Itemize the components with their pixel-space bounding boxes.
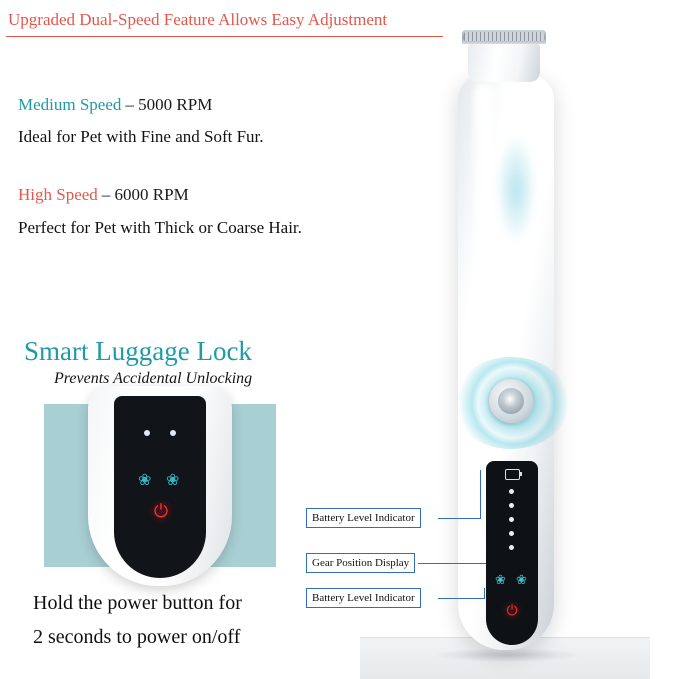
high-speed-description: Perfect for Pet with Thick or Coarse Hai… [18, 218, 302, 238]
battery-level-dot [509, 489, 514, 494]
high-speed-value: – 6000 RPM [102, 185, 189, 204]
callout-leader-line [480, 470, 481, 519]
closeup-led-dot [144, 430, 150, 436]
callout-gear-position-display: Gear Position Display [306, 553, 415, 573]
battery-icon [505, 469, 520, 480]
leaf-icon: ❀ [495, 573, 506, 586]
page-title: Upgraded Dual-Speed Feature Allows Easy … [8, 10, 387, 30]
title-underline [6, 36, 443, 37]
callout-leader-line [438, 598, 484, 599]
closeup-device: ❀ ❀ ⏻ [88, 386, 232, 586]
smart-lock-caption-line2: 2 seconds to power on/off [33, 620, 242, 654]
smart-lock-caption-line1: Hold the power button for [33, 586, 242, 620]
power-button[interactable] [489, 379, 533, 423]
device-display-panel: ❀ ❀ ⏻ [486, 461, 538, 645]
callout-leader-line [418, 563, 486, 564]
battery-level-dot [509, 531, 514, 536]
medium-speed-label: Medium Speed [18, 95, 121, 114]
device-blade-teeth [464, 32, 544, 41]
closeup-display-panel: ❀ ❀ ⏻ [114, 396, 206, 578]
medium-speed-row: Medium Speed – 5000 RPM [18, 95, 212, 115]
battery-level-dot [509, 545, 514, 550]
smart-lock-title: Smart Luggage Lock [24, 336, 252, 367]
power-button-ring [498, 388, 524, 414]
power-icon: ⏻ [150, 500, 172, 522]
smart-lock-caption: Hold the power button for 2 seconds to p… [33, 586, 242, 654]
leaf-icon: ❀ [516, 573, 527, 586]
medium-speed-value: – 5000 RPM [125, 95, 212, 114]
leaf-icon: ❀ [166, 470, 179, 490]
battery-level-dot [509, 517, 514, 522]
power-button-core [505, 395, 517, 407]
medium-speed-description: Ideal for Pet with Fine and Soft Fur. [18, 127, 264, 147]
leaf-icon: ❀ [138, 470, 151, 490]
device-neck [468, 42, 540, 82]
product-infographic: Upgraded Dual-Speed Feature Allows Easy … [0, 0, 679, 679]
high-speed-row: High Speed – 6000 RPM [18, 185, 189, 205]
battery-level-dot [509, 503, 514, 508]
callout-battery-level-indicator-bottom: Battery Level Indicator [306, 588, 421, 608]
device-glow [496, 134, 536, 244]
closeup-led-dot [170, 430, 176, 436]
main-product-device: ❀ ❀ ⏻ [452, 24, 560, 656]
callout-battery-level-indicator-top: Battery Level Indicator [306, 508, 421, 528]
device-highlight [474, 84, 494, 514]
high-speed-label: High Speed [18, 185, 98, 204]
callout-leader-line [484, 588, 485, 599]
power-icon: ⏻ [504, 604, 520, 620]
callout-leader-line [438, 518, 480, 519]
